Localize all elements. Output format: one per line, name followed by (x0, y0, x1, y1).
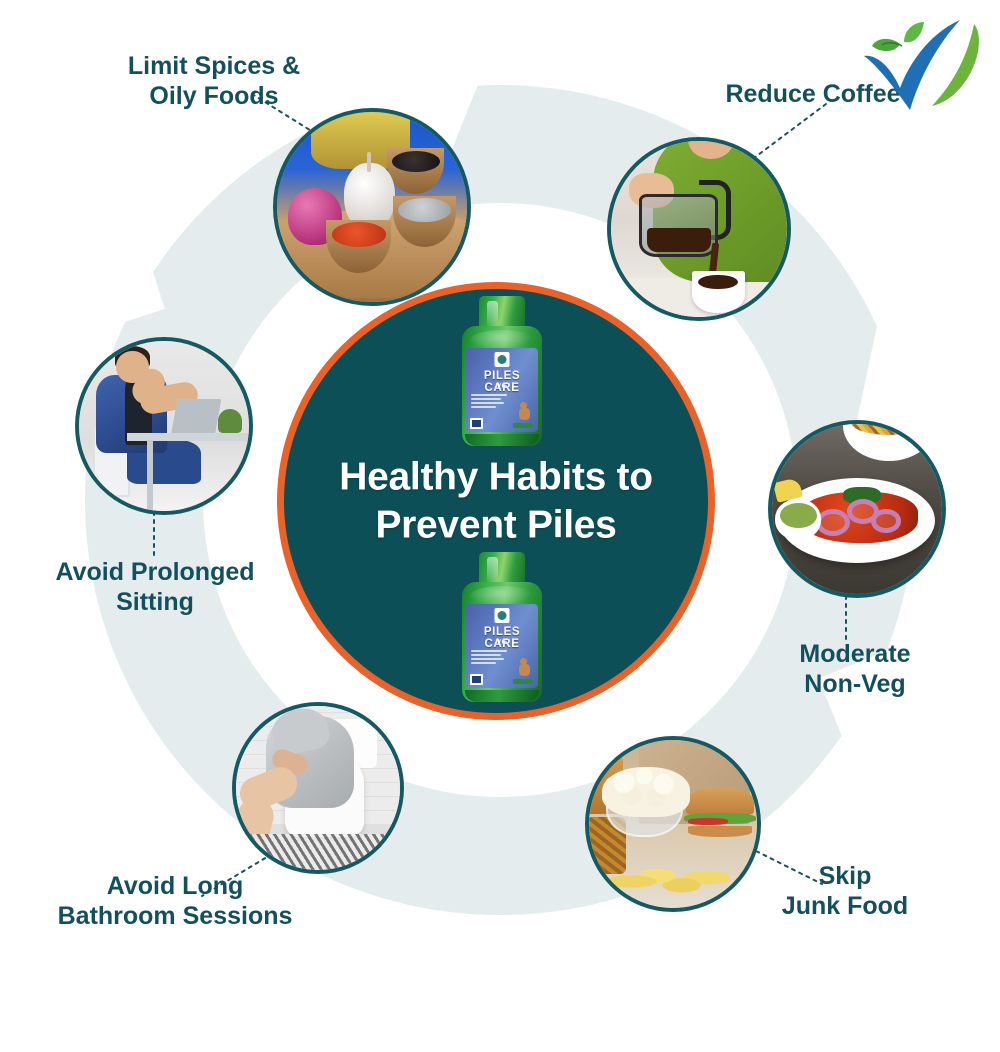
habit-label-limit-spices: Limit Spices & Oily Foods (85, 52, 343, 111)
habit-label-avoid-long-bathroom-sessions: Avoid Long Bathroom Sessions (25, 872, 325, 931)
bottle-shoulder-highlight (470, 330, 534, 350)
brand-logo (856, 14, 984, 118)
leaf-swoosh-logo-icon (856, 14, 984, 118)
bottle-label: PILES CARE VG (466, 348, 538, 432)
connector-avoid-sitting (148, 512, 160, 562)
label-figure-icon (513, 658, 533, 684)
label-text-lines (471, 394, 507, 410)
habit-label-skip-junk-food: Skip Junk Food (730, 862, 960, 921)
habit-label-moderate-non-veg: Moderate Non-Veg (745, 640, 965, 699)
tandoori-plate-photo (768, 420, 946, 598)
bottle-base (465, 690, 539, 702)
label-badge-icon (470, 418, 483, 429)
brand-logo-icon (495, 608, 510, 623)
product-name: PILES CARE (466, 626, 538, 650)
bottle-shoulder-highlight (470, 586, 534, 606)
bottle-base (465, 434, 539, 446)
toilet-session-photo (232, 702, 404, 874)
coffee-pouring-photo (607, 137, 791, 321)
label-badge-icon (470, 674, 483, 685)
infographic-canvas: Limit Spices & Oily Foods Reduce Coffee (0, 0, 1000, 1000)
product-subtitle: VG (466, 383, 538, 390)
label-figure-icon (513, 402, 533, 428)
connector-moderate-nonveg (840, 596, 852, 644)
product-name: PILES CARE (466, 370, 538, 394)
product-bottle-bottom: PILES CARE VG (456, 552, 548, 704)
product-subtitle: VG (466, 639, 538, 646)
habit-label-avoid-prolonged-sitting: Avoid Prolonged Sitting (30, 558, 280, 617)
spices-bowls-photo (273, 108, 471, 306)
bottle-label: PILES CARE VG (466, 604, 538, 688)
brand-logo-icon (495, 352, 510, 367)
product-bottle-top: PILES CARE VG (456, 296, 548, 448)
man-at-desk-photo (75, 337, 253, 515)
page-title: Healthy Habits to Prevent Piles (284, 453, 708, 548)
label-text-lines (471, 650, 507, 666)
